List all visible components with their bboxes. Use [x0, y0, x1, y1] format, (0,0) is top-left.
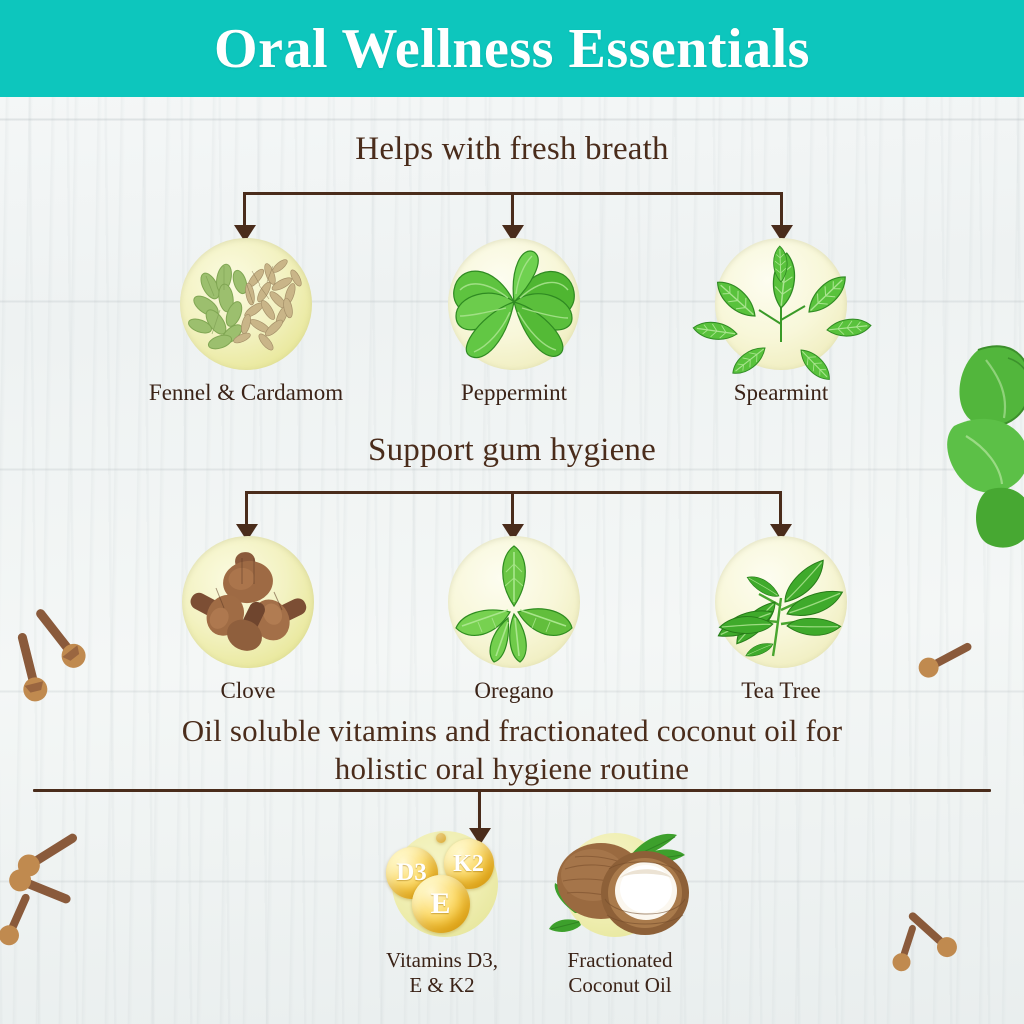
clove-buds-decoration-left: [0, 596, 120, 716]
ingredient-item-oregano: Oregano: [409, 536, 619, 704]
header-banner: Oral Wellness Essentials: [0, 0, 1024, 97]
infographic-poster: Oral Wellness Essentials: [0, 0, 1024, 1024]
ingredient-label: Peppermint: [409, 379, 619, 406]
ingredient-label: Oregano: [409, 677, 619, 704]
ingredient-label: Tea Tree: [676, 677, 886, 704]
ingredient-label: Clove: [143, 677, 353, 704]
bracket-connector-1: [243, 192, 783, 244]
ingredient-label: Spearmint: [676, 379, 886, 406]
ingredient-item-tea-tree: Tea Tree: [676, 536, 886, 704]
tea-tree-sprig-icon: [715, 536, 847, 668]
clove-bud-decoration-right-upper: [900, 620, 990, 700]
ingredient-item-peppermint: Peppermint: [409, 238, 619, 406]
clove-bud-decoration-right-lower: [880, 890, 990, 980]
vitamin-droplet-k2-label: K2: [453, 851, 484, 878]
section-heading-1: Helps with fresh breath: [0, 131, 1024, 168]
ingredient-item-clove: Clove: [143, 536, 353, 704]
clove-buds-icon: [182, 536, 314, 668]
peppermint-leaves-icon: [448, 238, 580, 370]
vitamin-droplets-icon: D3 K2 E: [380, 829, 505, 941]
spearmint-leaves-icon: [715, 238, 847, 370]
section-heading-3-line2: holistic oral hygiene routine: [0, 750, 1024, 788]
fennel-cardamom-seeds-icon: [180, 238, 312, 370]
section-heading-3-line1: Oil soluble vitamins and fractionated co…: [0, 712, 1024, 750]
vitamin-droplet-small: [436, 833, 446, 843]
coconut-icon: [545, 829, 695, 941]
page-title: Oral Wellness Essentials: [214, 17, 810, 81]
section-heading-2: Support gum hygiene: [0, 432, 1024, 469]
vitamin-droplet-e: E: [412, 875, 470, 933]
oregano-leaves-icon: [448, 536, 580, 668]
ingredient-label: Fractionated Coconut Oil: [505, 948, 735, 998]
ingredient-item-fennel-cardamom: Fennel & Cardamom: [141, 238, 351, 406]
ingredient-item-spearmint: Spearmint: [676, 238, 886, 406]
ingredient-item-coconut: Fractionated Coconut Oil: [505, 829, 735, 998]
vitamin-droplet-e-label: E: [430, 887, 450, 921]
ingredient-label: Fennel & Cardamom: [141, 379, 351, 406]
